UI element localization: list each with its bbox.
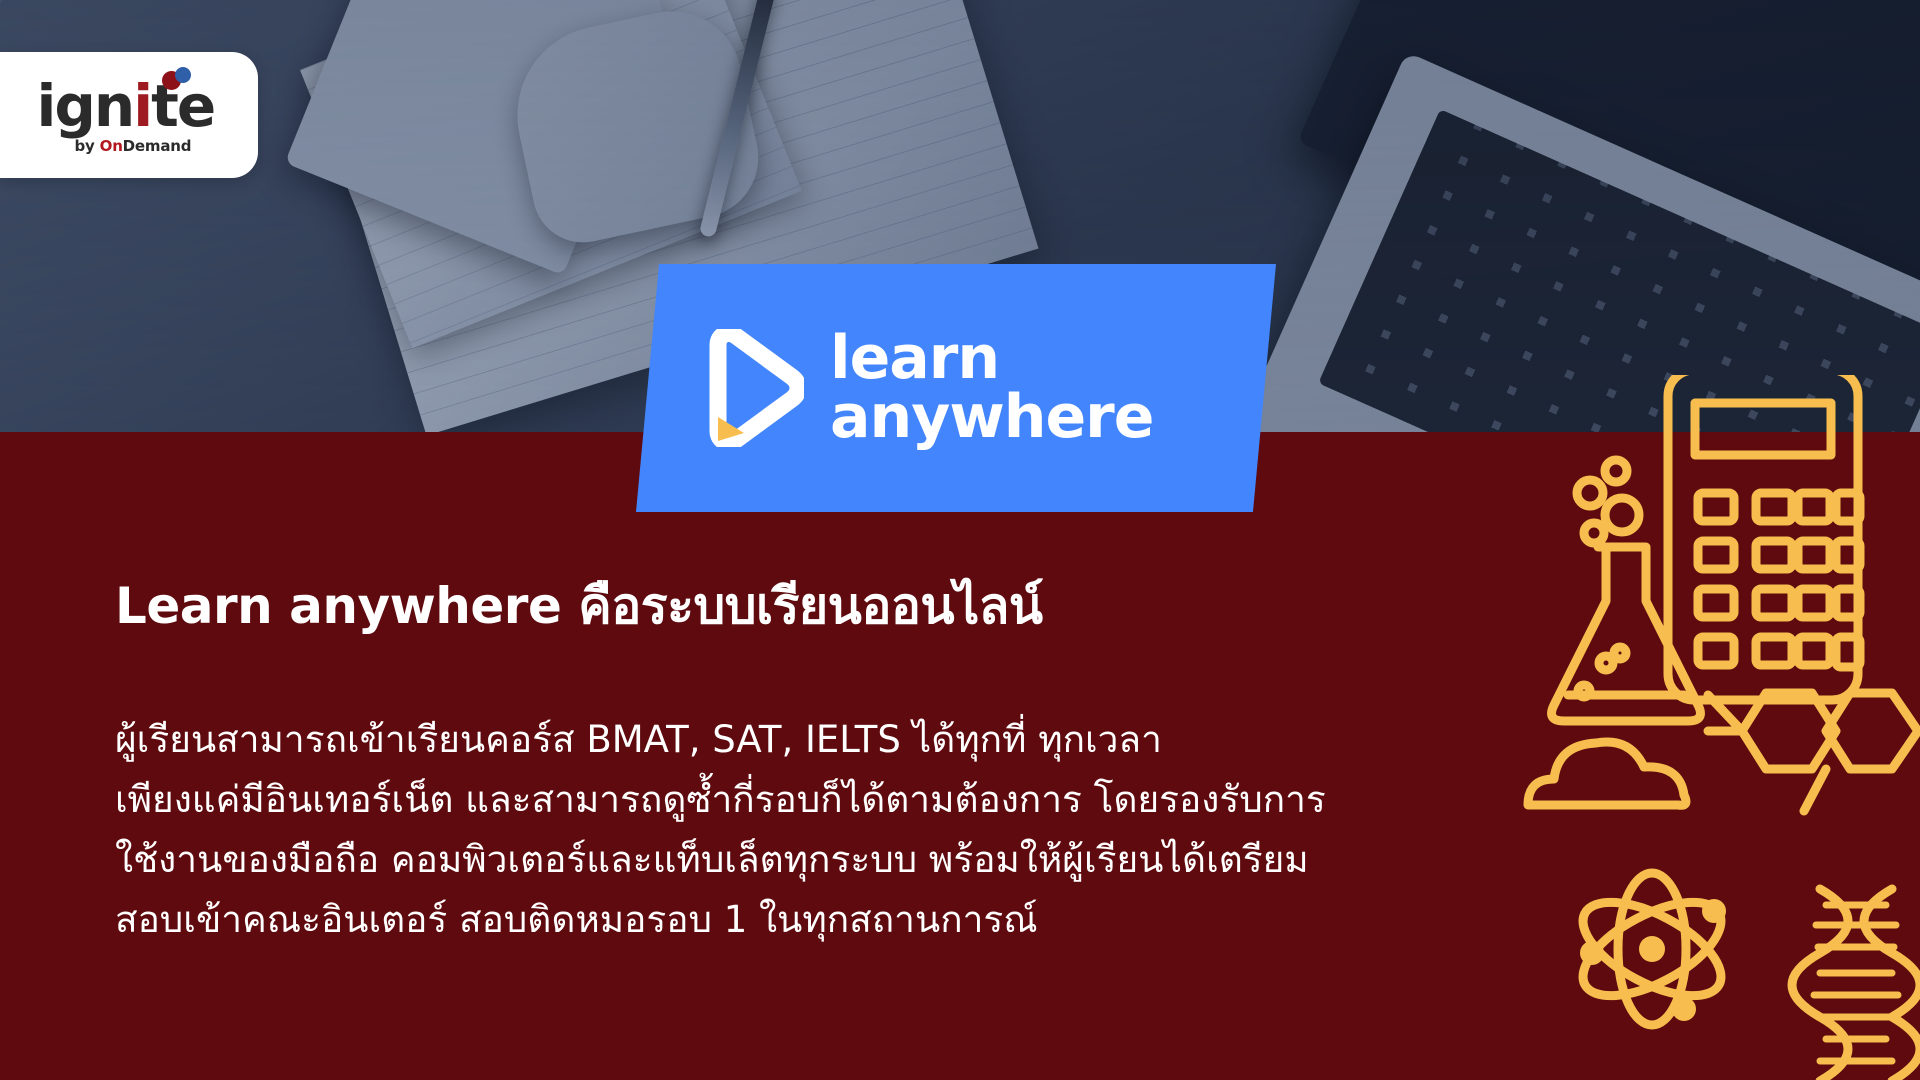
tagline-on: On [100, 137, 123, 155]
learn-anywhere-banner[interactable]: learn anywhere [636, 264, 1276, 512]
ignite-wordmark: ignite [37, 77, 222, 135]
ignite-tagline: by OnDemand [75, 137, 192, 155]
promo-banner-stage: ignite by OnDemand learn anywhere [0, 0, 1920, 1080]
ignite-dot-blue-icon [175, 67, 191, 83]
description-paragraph: ผู้เรียนสามารถเข้าเรียนคอร์ส BMAT, SAT, … [115, 710, 1515, 950]
paragraph-line: เพียงแค่มีอินเทอร์เน็ต และสามารถดูซ้ำกี่… [115, 770, 1515, 830]
tagline-by: by [75, 137, 100, 155]
banner-line-2: anywhere [830, 388, 1153, 447]
ignite-logo: ignite by OnDemand [37, 69, 222, 161]
paragraph-line: ใช้งานของมือถือ คอมพิวเตอร์และแท็บเล็ตทุ… [115, 830, 1515, 890]
banner-line-1: learn [830, 329, 1153, 388]
play-pencil-icon [700, 329, 804, 447]
page-title: Learn anywhere คือระบบเรียนออนไลน์ [115, 575, 1435, 638]
learn-anywhere-wordmark: learn anywhere [830, 329, 1153, 447]
tagline-demand: Demand [123, 137, 192, 155]
paragraph-line: ผู้เรียนสามารถเข้าเรียนคอร์ส BMAT, SAT, … [115, 710, 1515, 770]
ignite-wordmark-part1: ign [37, 72, 134, 140]
ignite-wordmark-part2: i [133, 72, 151, 140]
paragraph-line: สอบเข้าคณะอินเตอร์ สอบติดหมอรอบ 1 ในทุกส… [115, 890, 1515, 950]
ignite-logo-card[interactable]: ignite by OnDemand [0, 52, 258, 178]
